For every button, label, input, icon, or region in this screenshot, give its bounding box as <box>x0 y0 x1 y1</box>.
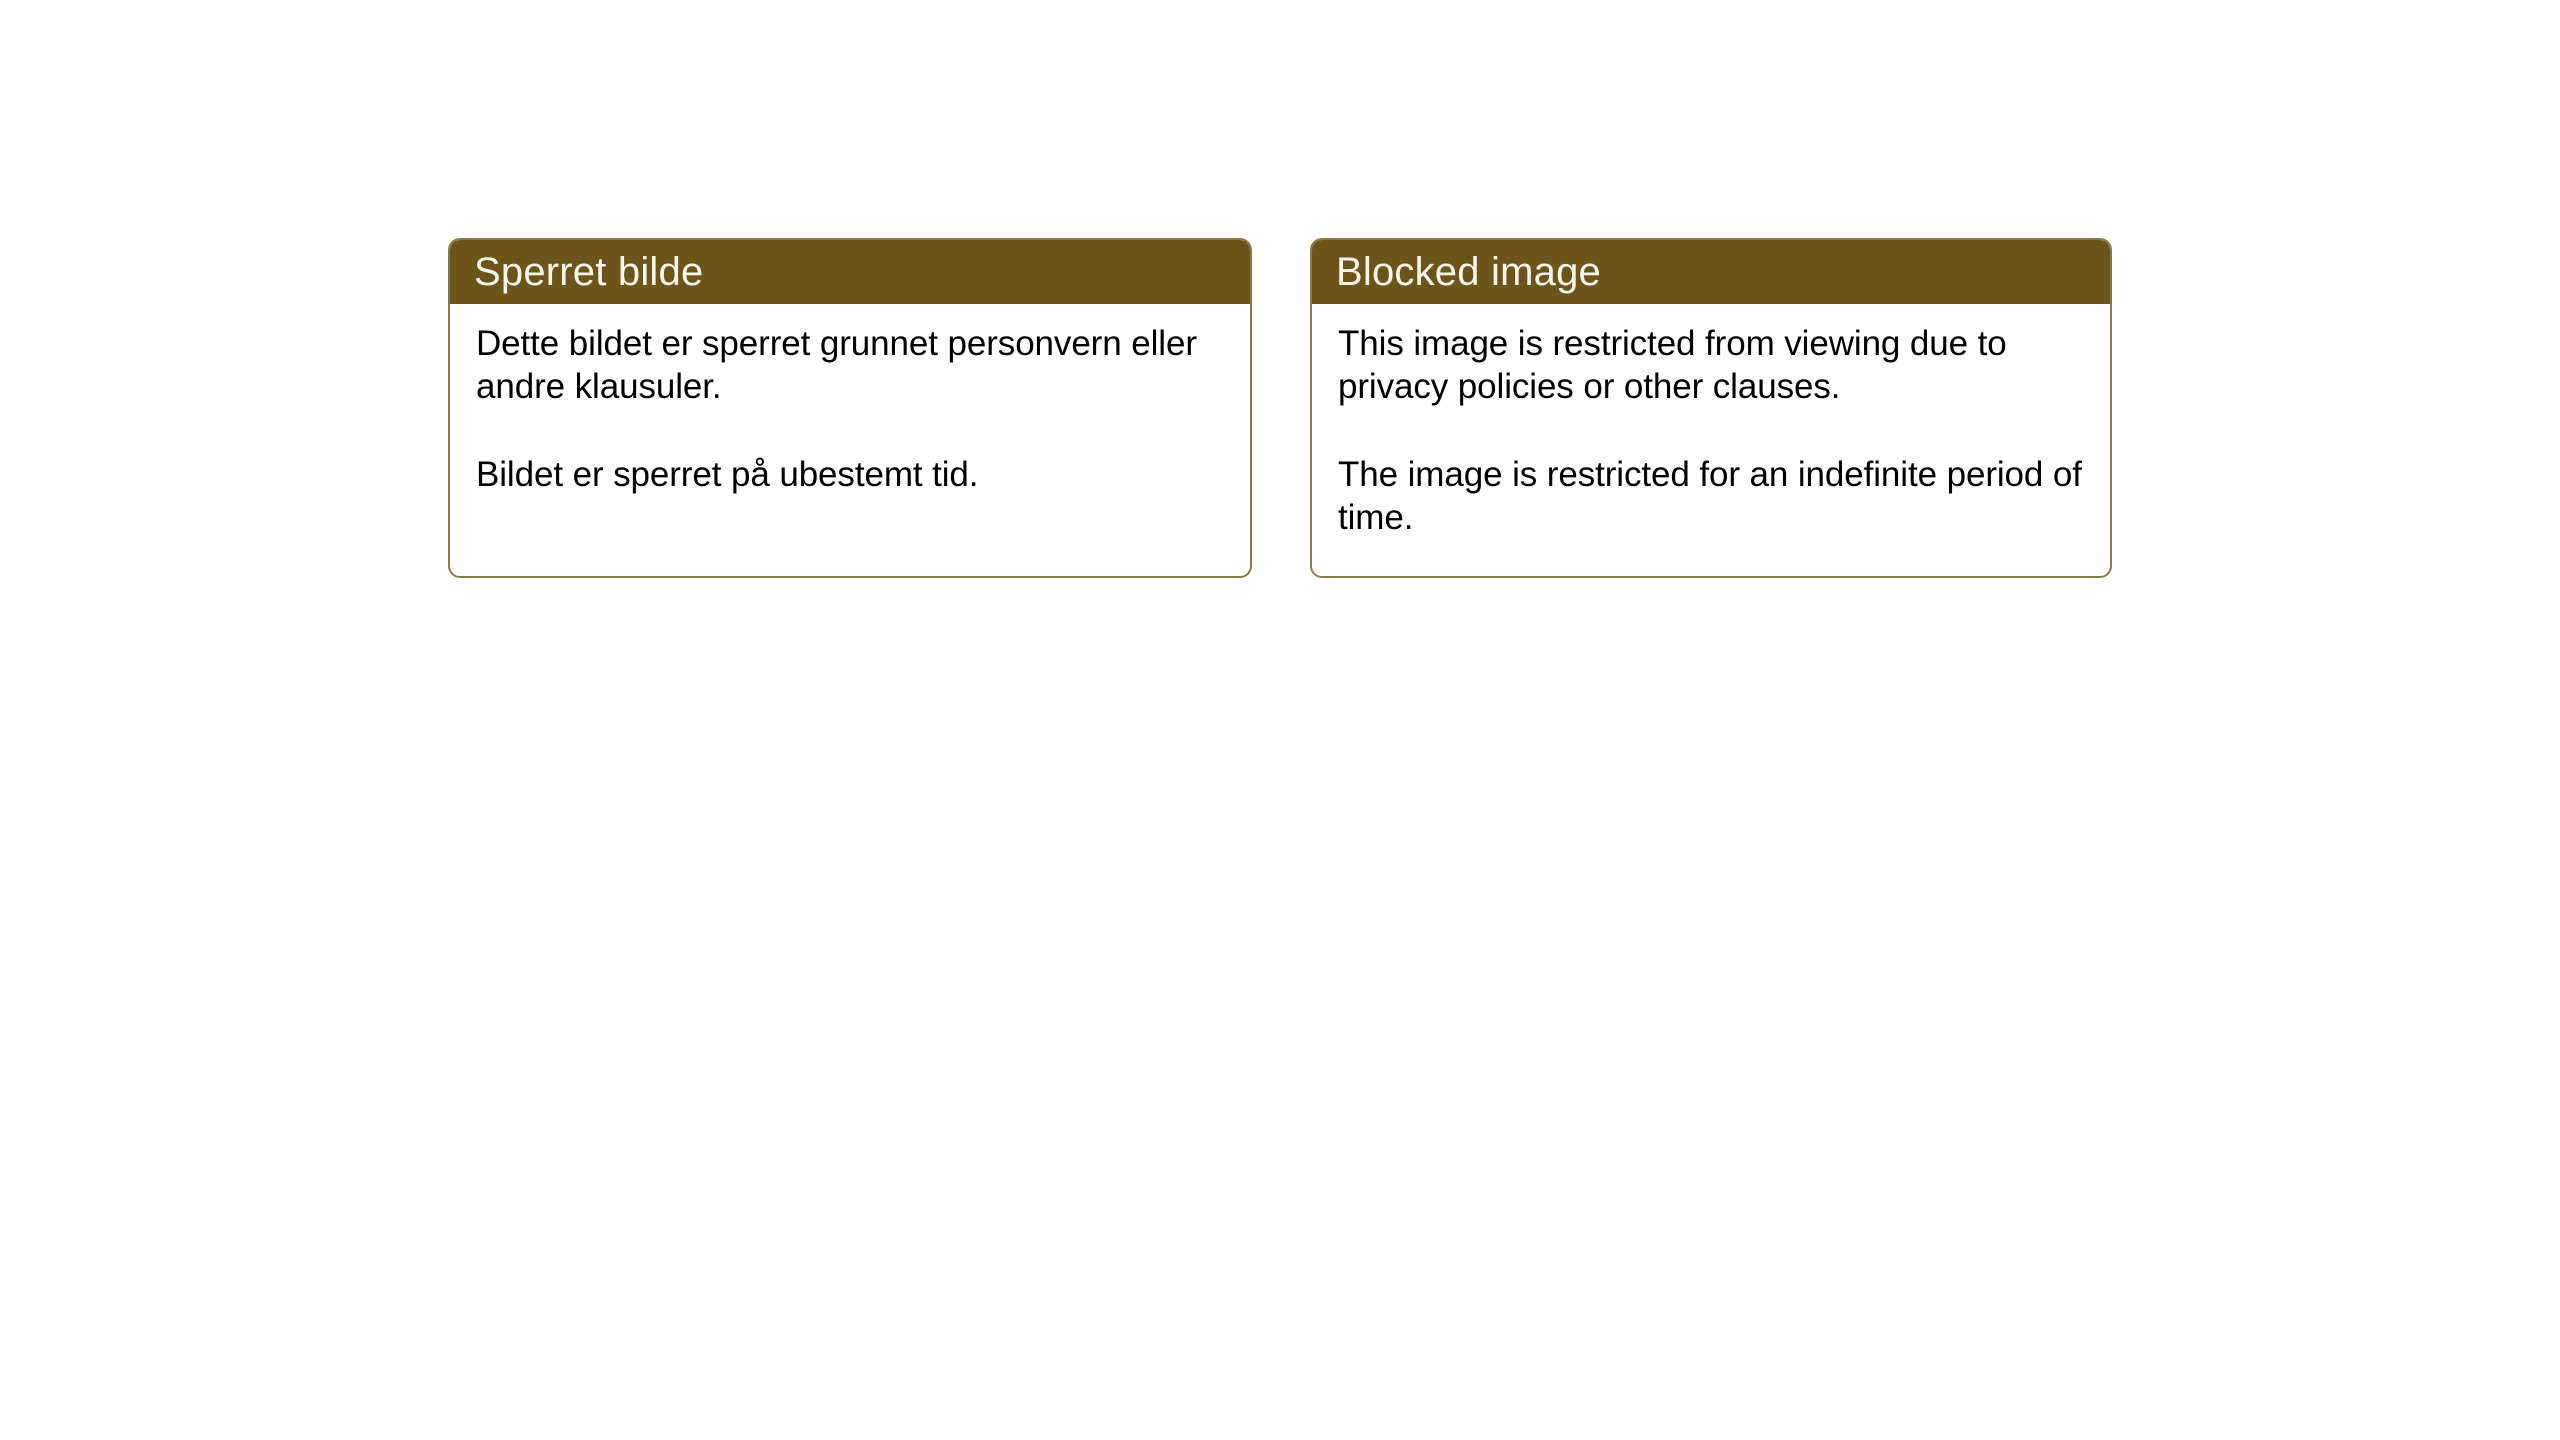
page-root: Sperret bilde Dette bildet er sperret gr… <box>0 0 2560 1440</box>
card-message-secondary-norwegian: Bildet er sperret på ubestemt tid. <box>476 453 1224 496</box>
blocked-image-notice-card-norwegian: Sperret bilde Dette bildet er sperret gr… <box>448 238 1252 578</box>
card-title-english: Blocked image <box>1336 252 1601 292</box>
card-body-norwegian: Dette bildet er sperret grunnet personve… <box>450 304 1250 496</box>
card-body-english: This image is restricted from viewing du… <box>1312 304 2110 539</box>
card-message-primary-english: This image is restricted from viewing du… <box>1338 322 2084 408</box>
card-message-primary-norwegian: Dette bildet er sperret grunnet personve… <box>476 322 1224 408</box>
blocked-image-notice-card-english: Blocked image This image is restricted f… <box>1310 238 2112 578</box>
card-message-secondary-english: The image is restricted for an indefinit… <box>1338 453 2084 539</box>
card-header-english: Blocked image <box>1312 240 2110 304</box>
card-title-norwegian: Sperret bilde <box>474 252 703 292</box>
card-header-norwegian: Sperret bilde <box>450 240 1250 304</box>
